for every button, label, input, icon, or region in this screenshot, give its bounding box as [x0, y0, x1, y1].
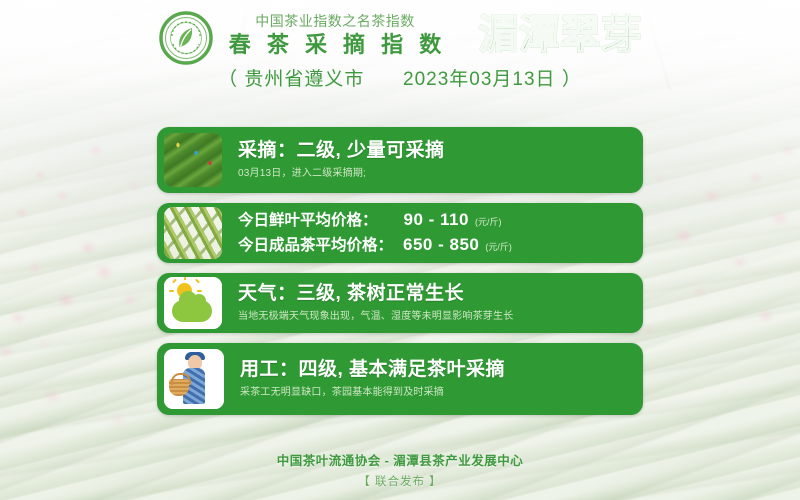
card-labor[interactable]: 用工：四级, 基本满足茶叶采摘 采茶工无明显缺口，茶园基本能得到及时采摘 — [157, 343, 643, 415]
card-labor-desc: 采茶工无明显缺口，茶园基本能得到及时采摘 — [240, 385, 631, 401]
footer-organizations: 中国茶叶流通协会 - 湄潭县茶产业发展中心 — [0, 452, 800, 470]
poster-stage: 中国茶业指数之名茶指数 春 茶 采 摘 指 数 湄潭翠芽 （ 贵州省遵义市 20… — [0, 0, 800, 500]
card-labor-body: 用工：四级, 基本满足茶叶采摘 采茶工无明显缺口，茶园基本能得到及时采摘 — [224, 357, 643, 401]
poster-header: 中国茶业指数之名茶指数 春 茶 采 摘 指 数 湄潭翠芽 — [0, 0, 800, 66]
price-finished-value: 650 - 850 — [403, 234, 479, 256]
location-text: （ 贵州省遵义市 — [218, 69, 364, 90]
sun-cloud-weather-icon — [164, 277, 222, 329]
price-fresh-value: 90 - 110 — [404, 209, 469, 231]
price-finished-label: 今日成品茶平均价格： — [238, 235, 393, 257]
poster-footer: 中国茶叶流通协会 - 湄潭县茶产业发展中心 【 联合发布 】 — [0, 452, 800, 491]
card-weather-title: 天气：三级, 茶树正常生长 — [238, 281, 631, 307]
card-picking-title: 采摘：二级, 少量可采摘 — [238, 138, 631, 164]
price-row-fresh: 今日鲜叶平均价格： 90 - 110 (元/斤) — [238, 209, 631, 233]
card-price-body: 今日鲜叶平均价格： 90 - 110 (元/斤) 今日成品茶平均价格： 650 … — [222, 209, 643, 258]
footer-joint-release: 【 联合发布 】 — [0, 473, 800, 491]
price-row-finished: 今日成品茶平均价格： 650 - 850 (元/斤) — [238, 234, 631, 258]
card-labor-title: 用工：四级, 基本满足茶叶采摘 — [240, 357, 631, 383]
price-fresh-label: 今日鲜叶平均价格： — [238, 210, 378, 232]
date-text: 2023年03月13日 ） — [403, 69, 582, 90]
index-subtitle: 中国茶业指数之名茶指数 — [255, 12, 415, 30]
card-picking-desc: 03月13日，进入二级采摘期; — [238, 166, 631, 182]
poster-content: 中国茶业指数之名茶指数 春 茶 采 摘 指 数 湄潭翠芽 （ 贵州省遵义市 20… — [0, 0, 800, 500]
card-weather[interactable]: 天气：三级, 茶树正常生长 当地无极端天气现象出现，气温、湿度等未明显影响茶芽生… — [157, 273, 643, 333]
china-tea-index-emblem-icon — [158, 10, 214, 66]
fresh-tea-leaves-photo-icon — [164, 207, 222, 259]
card-picking[interactable]: 采摘：二级, 少量可采摘 03月13日，进入二级采摘期; — [157, 127, 643, 193]
index-main-title: 春 茶 采 摘 指 数 — [224, 31, 447, 59]
card-price[interactable]: 今日鲜叶平均价格： 90 - 110 (元/斤) 今日成品茶平均价格： 650 … — [157, 203, 643, 263]
price-finished-unit: (元/斤) — [485, 236, 512, 258]
card-weather-body: 天气：三级, 茶树正常生长 当地无极端天气现象出现，气温、湿度等未明显影响茶芽生… — [222, 281, 643, 325]
card-picking-body: 采摘：二级, 少量可采摘 03月13日，进入二级采摘期; — [222, 138, 643, 182]
price-fresh-unit: (元/斤) — [475, 211, 502, 233]
brand-title: 湄潭翠芽 — [478, 8, 642, 62]
price-rows: 今日鲜叶平均价格： 90 - 110 (元/斤) 今日成品茶平均价格： 650 … — [238, 209, 631, 258]
tea-picker-woman-icon — [164, 349, 224, 409]
tea-terrace-photo-icon — [164, 133, 222, 187]
card-weather-desc: 当地无极端天气现象出现，气温、湿度等未明显影响茶芽生长 — [238, 309, 631, 325]
index-title-block: 中国茶业指数之名茶指数 春 茶 采 摘 指 数 — [224, 8, 447, 59]
index-card-list: 采摘：二级, 少量可采摘 03月13日，进入二级采摘期; 今日鲜叶平均价格： 9… — [157, 127, 643, 425]
location-date-line: （ 贵州省遵义市 2023年03月13日 ） — [0, 68, 800, 92]
